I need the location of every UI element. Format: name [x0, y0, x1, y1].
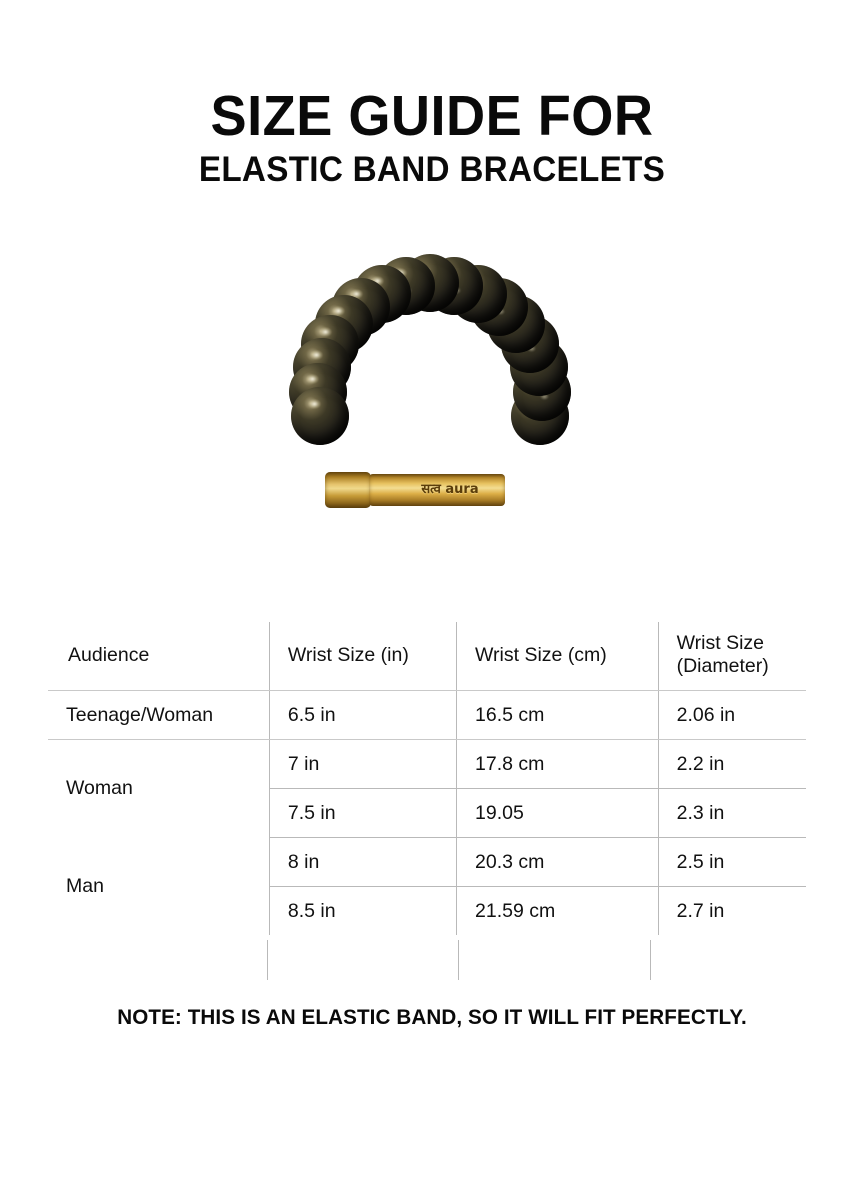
table-vrule-2: [458, 940, 459, 980]
cell-wrist-in: 8 in: [269, 838, 456, 887]
table-row: Man 8 in 20.3 cm 2.5 in: [48, 838, 806, 887]
table-row: Woman 7 in 17.8 cm 2.2 in: [48, 740, 806, 789]
column-header-wrist-cm: Wrist Size (cm): [457, 622, 659, 691]
page-subtitle: ELASTIC BAND BRACELETS: [22, 150, 843, 190]
table-rule-extensions: [48, 940, 806, 980]
product-image: सत्व aura: [0, 252, 864, 570]
table-vrule-3: [650, 940, 651, 980]
table-header-row: Audience Wrist Size (in) Wrist Size (cm)…: [48, 622, 806, 691]
cell-wrist-in: 6.5 in: [269, 691, 456, 740]
cell-wrist-cm: 21.59 cm: [457, 887, 659, 936]
cell-wrist-cm: 19.05: [457, 789, 659, 838]
note-text: NOTE: THIS IS AN ELASTIC BAND, SO IT WIL…: [17, 1005, 846, 1030]
page-title: SIZE GUIDE FOR: [22, 86, 843, 146]
column-header-wrist-diameter-line2: (Diameter): [677, 655, 806, 678]
table-body: Teenage/Woman 6.5 in 16.5 cm 2.06 in Wom…: [48, 691, 806, 936]
audience-label: Teenage/Woman: [48, 691, 269, 740]
table-row: Teenage/Woman 6.5 in 16.5 cm 2.06 in: [48, 691, 806, 740]
cell-wrist-cm: 16.5 cm: [457, 691, 659, 740]
audience-label: Woman: [48, 740, 269, 838]
cell-wrist-diameter: 2.3 in: [658, 789, 806, 838]
column-header-wrist-diameter: Wrist Size (Diameter): [658, 622, 806, 691]
column-header-wrist-diameter-line1: Wrist Size: [677, 632, 806, 655]
cell-wrist-in: 7 in: [269, 740, 456, 789]
cell-wrist-diameter: 2.2 in: [658, 740, 806, 789]
bracelet-illustration: सत्व aura: [263, 252, 597, 552]
page-header: SIZE GUIDE FOR ELASTIC BAND BRACELETS: [0, 0, 864, 190]
cell-wrist-cm: 17.8 cm: [457, 740, 659, 789]
column-header-wrist-in: Wrist Size (in): [269, 622, 456, 691]
clasp-cap: [325, 472, 371, 508]
brand-engraving: सत्व aura: [405, 480, 495, 500]
cell-wrist-diameter: 2.7 in: [658, 887, 806, 936]
cell-wrist-in: 7.5 in: [269, 789, 456, 838]
size-chart-table: Audience Wrist Size (in) Wrist Size (cm)…: [48, 622, 806, 935]
cell-wrist-diameter: 2.06 in: [658, 691, 806, 740]
sizes-table: Audience Wrist Size (in) Wrist Size (cm)…: [48, 622, 806, 935]
cell-wrist-in: 8.5 in: [269, 887, 456, 936]
column-header-audience: Audience: [48, 622, 269, 691]
table-head: Audience Wrist Size (in) Wrist Size (cm)…: [48, 622, 806, 691]
cell-wrist-cm: 20.3 cm: [457, 838, 659, 887]
audience-label: Man: [48, 838, 269, 936]
cell-wrist-diameter: 2.5 in: [658, 838, 806, 887]
table-vrule-1: [267, 940, 268, 980]
bracelet-bead: [291, 387, 349, 445]
